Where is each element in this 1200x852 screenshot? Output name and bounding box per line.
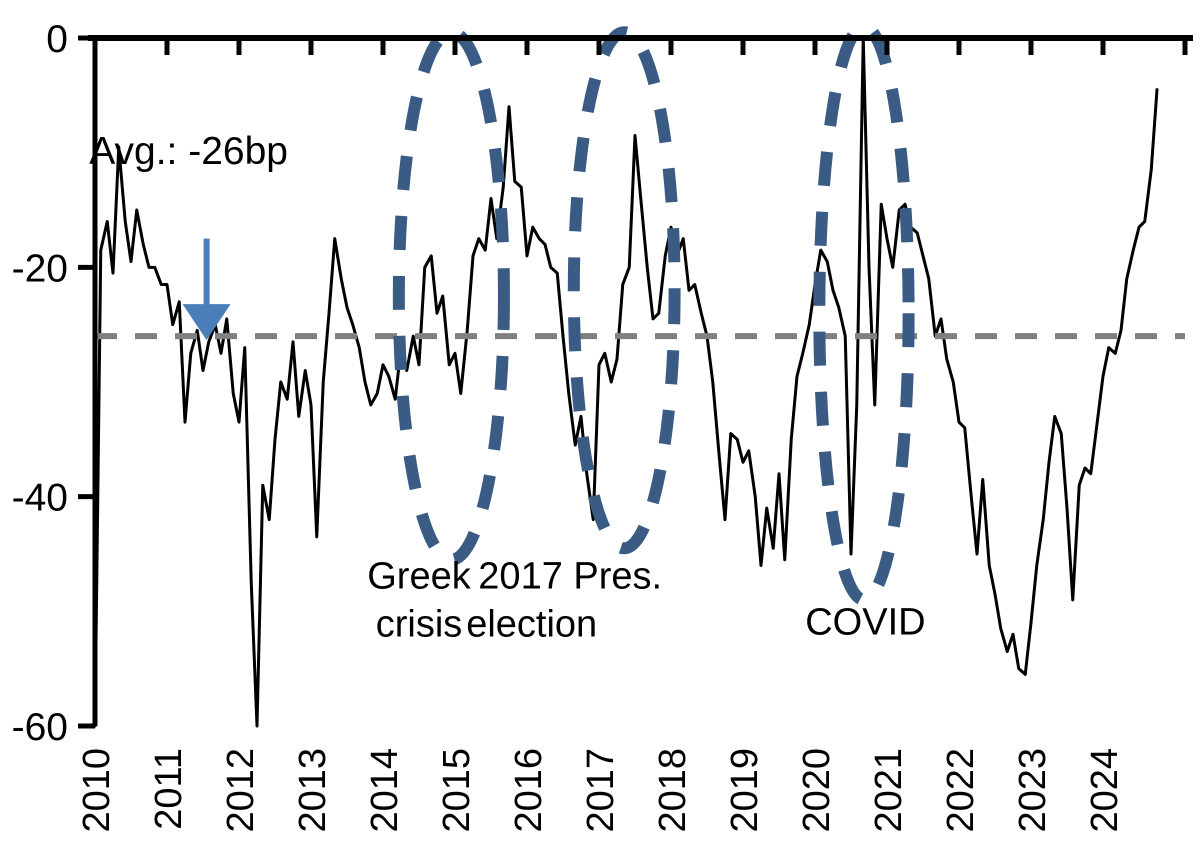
x-tick-label: 2020 — [796, 748, 838, 833]
x-tick-label: 2024 — [1084, 748, 1126, 833]
annotations: Avg.: -26bpGreekcrisis2017 Pres.election… — [89, 130, 925, 645]
x-axis-tick-labels: 2010201120122013201420152016201720182019… — [76, 748, 1126, 833]
greek-crisis-label: Greek — [367, 555, 471, 597]
x-tick-label: 2021 — [868, 748, 910, 833]
average-annotation-label: Avg.: -26bp — [89, 130, 288, 173]
x-tick-label: 2023 — [1012, 748, 1054, 833]
x-tick-label: 2010 — [76, 748, 118, 833]
x-tick-label: 2018 — [652, 748, 694, 833]
x-tick-label: 2017 — [580, 748, 622, 833]
x-tick-label: 2011 — [148, 748, 190, 830]
x-tick-label: 2013 — [292, 748, 334, 833]
election-label: 2017 Pres. — [478, 555, 662, 597]
y-tick-label: -20 — [12, 247, 68, 290]
highlight-ellipse-1 — [399, 32, 504, 559]
x-tick-label: 2016 — [508, 748, 550, 833]
y-axis-tick-labels: 0-20-40-60 — [12, 18, 68, 749]
x-tick-label: 2012 — [220, 748, 262, 833]
y-tick-label: 0 — [46, 18, 68, 61]
x-tick-label: 2015 — [436, 748, 478, 833]
y-tick-label: -60 — [12, 706, 68, 749]
average-arrow — [183, 239, 231, 340]
greek-crisis-label: crisis — [376, 603, 463, 645]
highlight-ellipse-2 — [574, 32, 675, 548]
election-label: election — [466, 603, 597, 645]
line-chart: 0-20-40-60 20102011201220132014201520162… — [0, 0, 1200, 852]
covid-label: COVID — [805, 601, 925, 643]
chart-container: 0-20-40-60 20102011201220132014201520162… — [0, 0, 1200, 852]
x-tick-label: 2019 — [724, 748, 766, 833]
x-tick-label: 2022 — [940, 748, 982, 833]
x-tick-label: 2014 — [364, 748, 406, 833]
y-tick-label: -40 — [12, 477, 68, 520]
